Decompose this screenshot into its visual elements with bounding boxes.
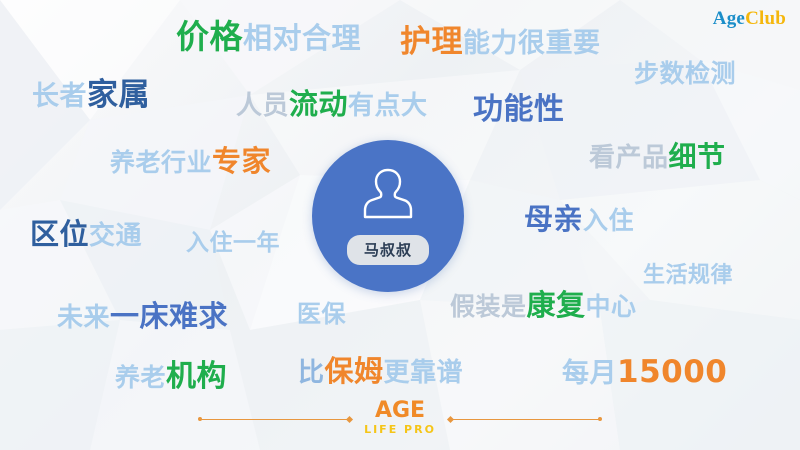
- ageclub-logo: AgeClub: [713, 8, 786, 30]
- word-price-seg1: 相对合理: [243, 23, 361, 55]
- word-lifestyle: 生活规律: [643, 264, 733, 286]
- footer-rule-left: [200, 419, 350, 420]
- word-insurance: 医保: [297, 303, 346, 327]
- word-details-seg0: 看产品: [589, 142, 669, 172]
- word-price: 价格相对合理: [176, 20, 361, 54]
- word-nursing: 护理能力很重要: [400, 26, 601, 57]
- person-icon: [357, 162, 419, 229]
- word-future-seg1: 一床难求: [110, 301, 228, 333]
- agelifepro-logo-tagline-text: LIFE PRO: [364, 423, 436, 436]
- word-turnover-seg0: 人员: [236, 90, 289, 120]
- footer-rule-right: [450, 419, 600, 420]
- word-institution: 养老机构: [115, 362, 227, 392]
- word-expert: 养老行业专家: [110, 148, 271, 177]
- agelifepro-logo-tagline: LIFE PRO: [364, 422, 436, 439]
- word-expert-seg1: 专家: [212, 146, 271, 178]
- word-turnover-seg2: 有点大: [348, 90, 428, 120]
- word-location-seg1: 交通: [89, 220, 142, 250]
- persona-avatar: 马叔叔: [312, 140, 464, 292]
- word-monthlycost-seg0: 每月: [562, 358, 617, 388]
- word-mother-seg0: 母亲: [524, 204, 583, 236]
- word-family: 长者家属: [32, 79, 150, 110]
- word-future-seg0: 未来: [57, 302, 110, 332]
- word-details-seg1: 细节: [669, 141, 726, 172]
- agelifepro-logo: AGE LIFE PRO: [350, 400, 450, 439]
- word-institution-seg0: 养老: [115, 364, 166, 392]
- word-rehab-seg0: 假装是: [450, 293, 527, 321]
- word-turnover-seg1: 流动: [289, 89, 348, 121]
- word-family-seg1: 家属: [87, 77, 150, 112]
- slide-canvas: AgeClub 马叔叔 价格相对合理 护理能力很重要 步数检测 长者家属 人员流…: [0, 0, 800, 450]
- word-nanny: 比保姆更靠谱: [298, 358, 463, 387]
- word-nursing-seg0: 护理: [400, 24, 463, 59]
- word-family-seg0: 长者: [32, 81, 87, 111]
- word-functionality: 功能性: [473, 95, 565, 125]
- footer-logo-bar: AGE LIFE PRO: [0, 396, 800, 442]
- word-details: 看产品细节: [589, 143, 726, 171]
- word-lifestyle-seg0: 生活规律: [643, 262, 733, 287]
- ageclub-logo-age: Age: [713, 8, 745, 29]
- word-expert-seg0: 养老行业: [110, 149, 212, 177]
- word-steps: 步数检测: [634, 62, 736, 87]
- word-price-seg0: 价格: [176, 18, 243, 55]
- word-nursing-seg1: 能力很重要: [463, 28, 601, 58]
- word-oneyear: 入住一年: [186, 231, 280, 254]
- word-functionality-seg0: 功能性: [473, 93, 565, 126]
- agelifepro-logo-age-text: AGE: [375, 398, 425, 423]
- word-location-seg0: 区位: [30, 219, 89, 251]
- word-nanny-seg0: 比: [298, 357, 325, 387]
- ageclub-logo-club: Club: [745, 8, 786, 29]
- word-nanny-seg2: 更靠谱: [384, 357, 464, 387]
- persona-name-label: 马叔叔: [347, 235, 429, 265]
- agelifepro-logo-age: AGE: [364, 400, 436, 422]
- word-rehab: 假装是康复中心: [450, 292, 637, 321]
- word-rehab-seg1: 康复: [527, 290, 586, 322]
- word-turnover: 人员流动有点大: [236, 91, 428, 120]
- word-oneyear-seg0: 入住一年: [186, 229, 280, 255]
- word-steps-seg0: 步数检测: [634, 60, 736, 88]
- word-mother: 母亲入住: [524, 206, 634, 235]
- word-nanny-seg1: 保姆: [325, 356, 384, 388]
- word-insurance-seg0: 医保: [297, 301, 346, 328]
- word-future: 未来一床难求: [57, 303, 228, 332]
- word-location: 区位交通: [30, 221, 142, 250]
- word-monthlycost-seg1: 15000: [617, 354, 727, 390]
- word-institution-seg1: 机构: [166, 360, 227, 393]
- word-rehab-seg2: 中心: [586, 293, 637, 321]
- word-monthlycost: 每月15000: [562, 357, 727, 388]
- word-mother-seg1: 入住: [583, 207, 634, 235]
